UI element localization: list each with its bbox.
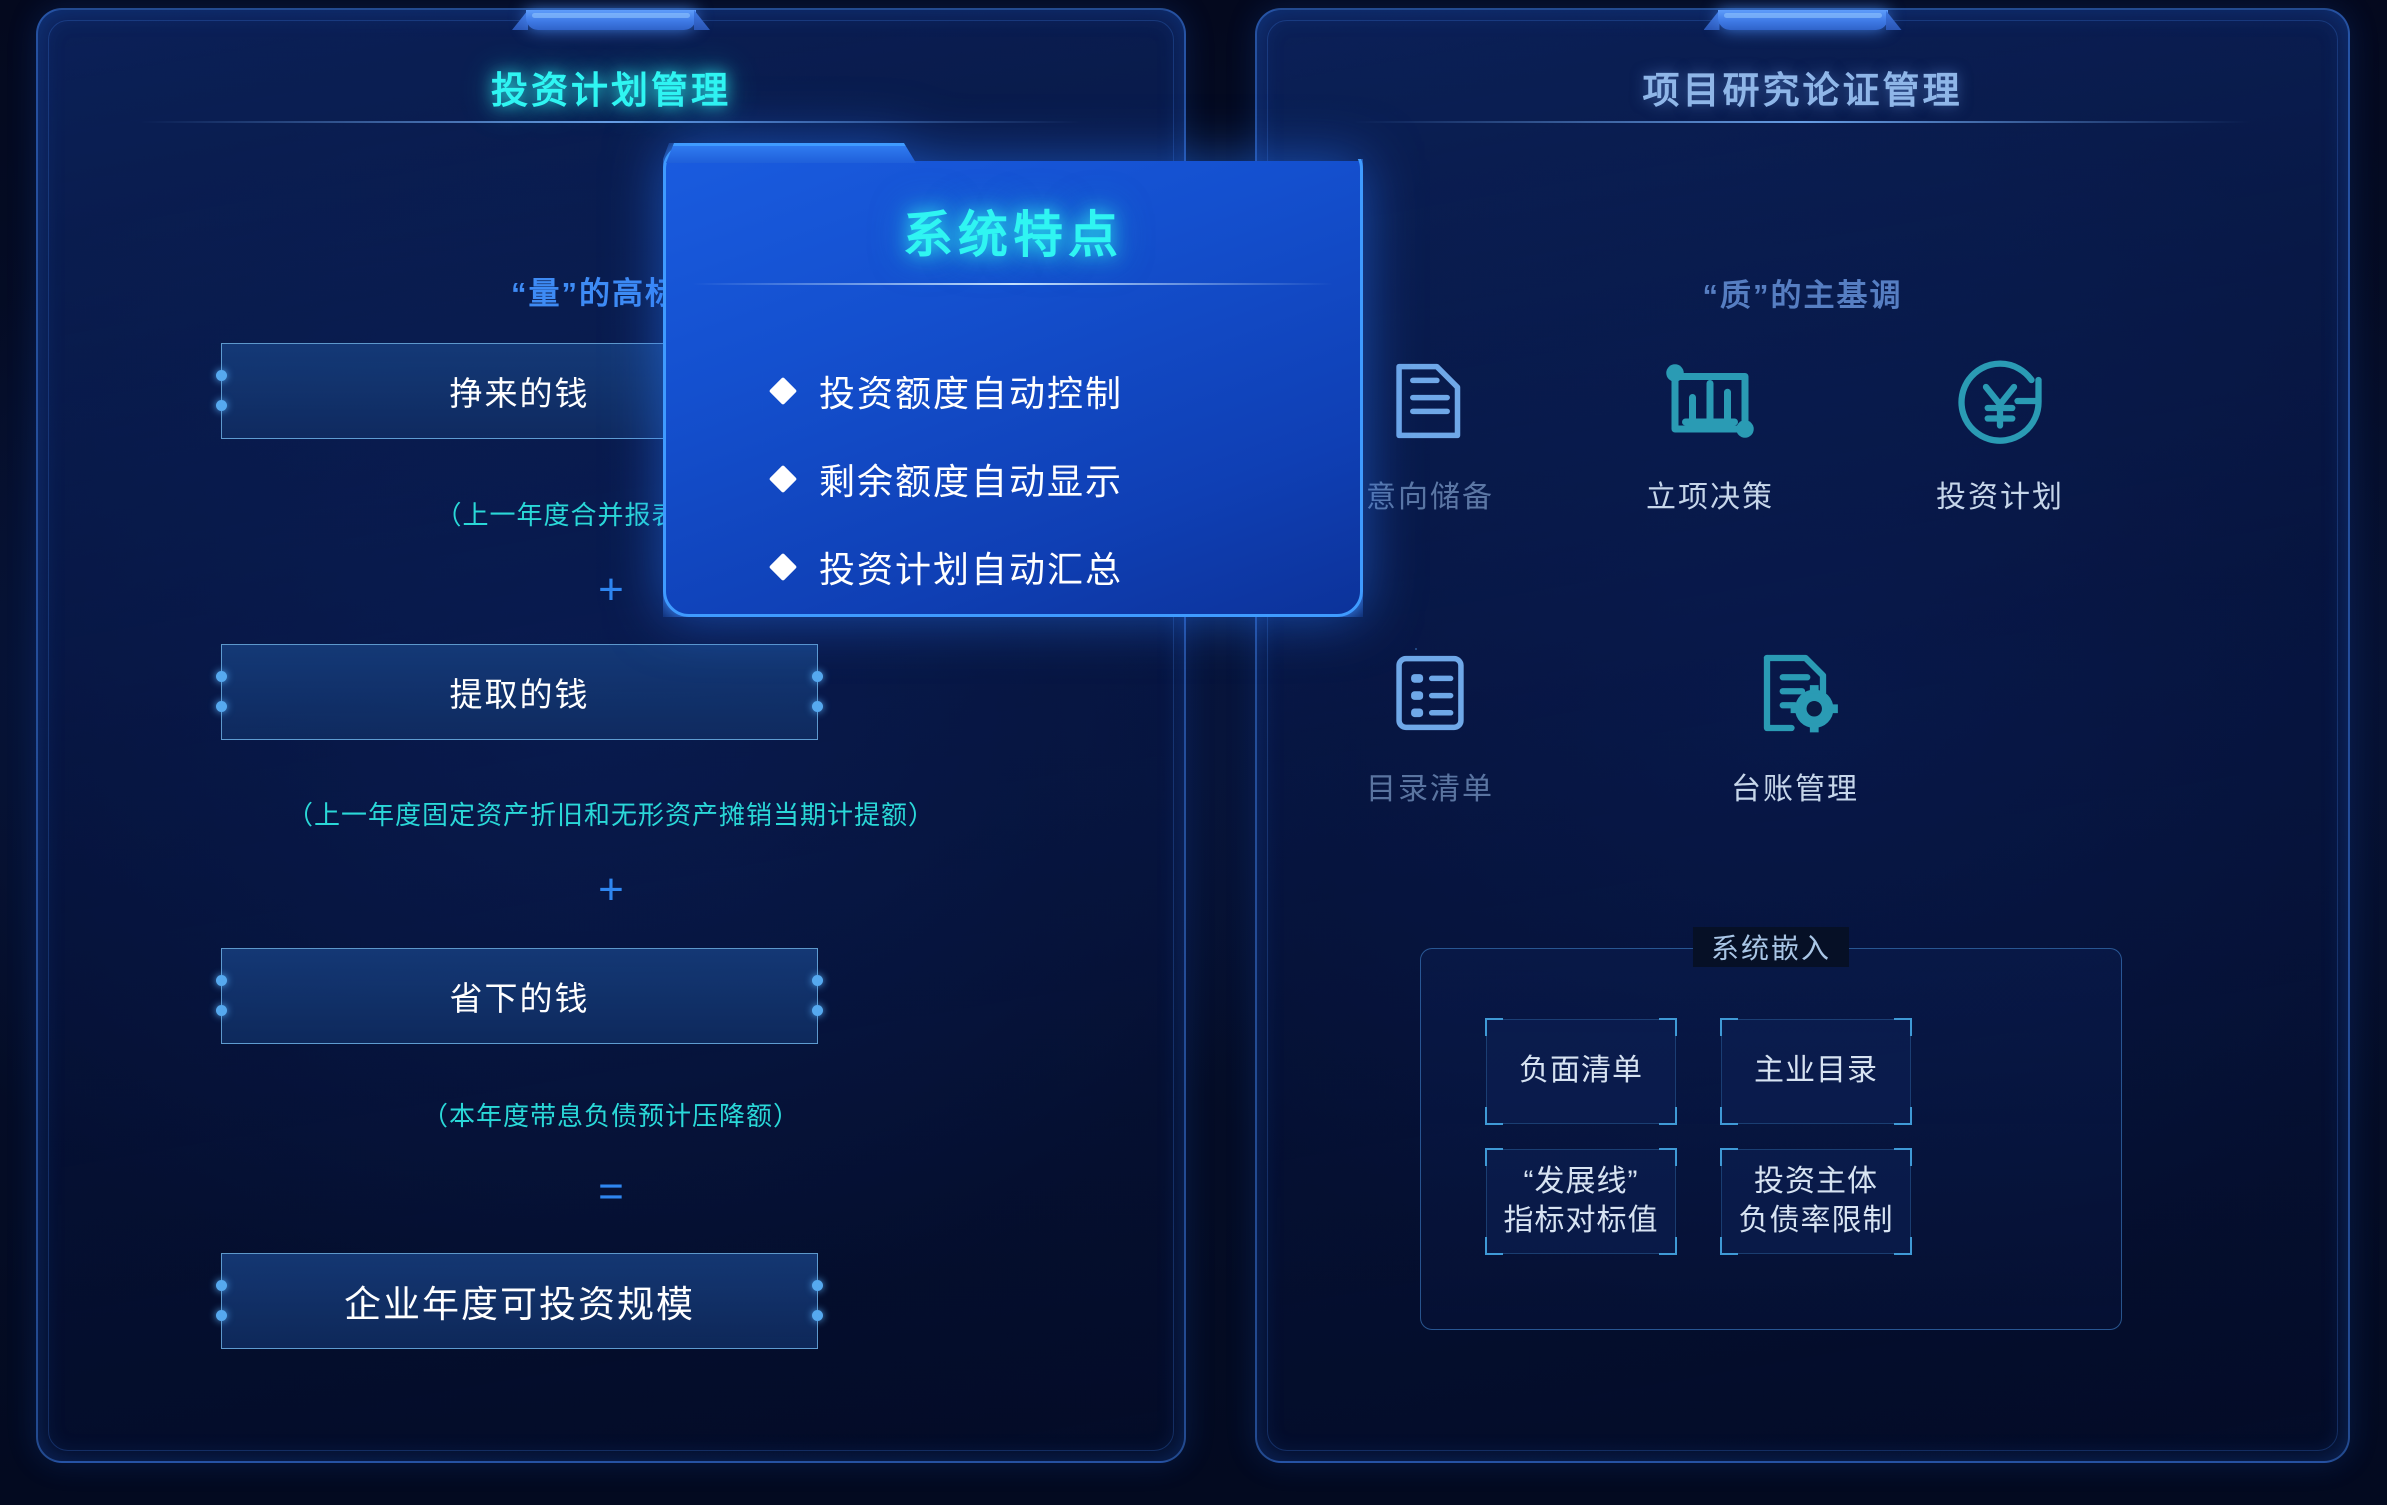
checklist-icon	[1315, 628, 1545, 758]
notch-wing-right	[1886, 10, 1902, 30]
modal-feature-item[interactable]: 投资计划自动汇总	[773, 541, 1123, 593]
slide-background: 投资计划管理 “量”的高标准 挣来的钱 （上一年度合并报表净利润） + 提取的钱…	[0, 0, 2387, 1505]
modal-title: 系统特点	[663, 195, 1363, 267]
icon-cell-ledger-management[interactable]: 台账管理	[1680, 628, 1910, 808]
node-dot	[216, 1310, 227, 1321]
yen-refresh-icon	[1885, 336, 2115, 466]
embed-item-investor-debt-ratio-label-2: 负债率限制	[1739, 1202, 1894, 1240]
embed-item-main-business-catalog-label: 主业目录	[1754, 1052, 1878, 1090]
notch-bar	[1718, 10, 1888, 30]
corner-bracket	[1894, 1148, 1912, 1166]
corner-bracket	[1485, 1237, 1503, 1255]
system-embed-legend: 系统嵌入	[1693, 927, 1849, 967]
modal-feature-item-label: 剩余额度自动显示	[819, 453, 1123, 505]
formula-note-2: （上一年度固定资产折旧和无形资产摊销当期计提额）	[36, 795, 1186, 832]
icon-cell-project-decision[interactable]: 立项决策	[1595, 336, 1825, 516]
corner-bracket	[1485, 1148, 1503, 1166]
notch-wing-right	[694, 10, 710, 30]
diamond-bullet-icon	[769, 553, 797, 581]
embed-item-main-business-catalog[interactable]: 主业目录	[1721, 1019, 1911, 1124]
node-dot	[216, 1280, 227, 1291]
embed-item-investor-debt-ratio-label-1: 投资主体	[1754, 1163, 1878, 1201]
node-dot	[216, 400, 227, 411]
icon-cell-project-decision-label: 立项决策	[1595, 472, 1825, 516]
modal-tab-top	[666, 143, 916, 166]
formula-box-2[interactable]: 提取的钱	[221, 644, 818, 740]
formula-result-label: 企业年度可投资规模	[344, 1274, 695, 1328]
formula-box-3[interactable]: 省下的钱	[221, 948, 818, 1044]
corner-bracket	[1720, 1018, 1738, 1036]
corner-bracket	[1720, 1148, 1738, 1166]
right-panel-notch	[1704, 0, 1902, 34]
embed-item-development-line-label-1: “发展线”	[1524, 1163, 1639, 1201]
formula-note-3: （本年度带息负债预计压降额）	[36, 1096, 1186, 1133]
embed-item-development-line-label-2: 指标对标值	[1504, 1202, 1659, 1240]
formula-operator-3: =	[36, 1170, 1186, 1214]
corner-bracket	[1659, 1237, 1677, 1255]
right-panel-subtitle: “质”的主基调	[1255, 270, 2350, 315]
corner-bracket	[1659, 1148, 1677, 1166]
modal-feature-list: 投资额度自动控制 剩余额度自动显示 投资计划自动汇总	[773, 365, 1123, 629]
left-panel-title: 投资计划管理	[36, 60, 1186, 114]
node-dot	[216, 370, 227, 381]
corner-bracket	[1720, 1237, 1738, 1255]
embed-item-negative-list[interactable]: 负面清单	[1486, 1019, 1676, 1124]
corner-bracket	[1659, 1107, 1677, 1125]
corner-bracket	[1894, 1237, 1912, 1255]
corner-bracket	[1485, 1018, 1503, 1036]
diamond-bullet-icon	[769, 377, 797, 405]
formula-operator-2: +	[36, 868, 1186, 912]
right-panel: 项目研究论证管理 “质”的主基调 意向储备	[1255, 8, 2350, 1463]
corner-bracket	[1659, 1018, 1677, 1036]
node-dot	[216, 1005, 227, 1016]
modal-feature-item-label: 投资计划自动汇总	[819, 541, 1123, 593]
diamond-bullet-icon	[769, 465, 797, 493]
formula-box-3-label: 省下的钱	[450, 972, 590, 1020]
modal-feature-item-label: 投资额度自动控制	[819, 365, 1123, 417]
embed-item-investor-debt-ratio[interactable]: 投资主体 负债率限制	[1721, 1149, 1911, 1254]
embed-item-negative-list-label: 负面清单	[1519, 1052, 1643, 1090]
left-panel-notch	[512, 0, 710, 34]
right-panel-title-rule	[1354, 121, 2252, 123]
node-dot	[216, 975, 227, 986]
icon-cell-catalog-list[interactable]: 目录清单	[1315, 628, 1545, 808]
corner-bracket	[1894, 1107, 1912, 1125]
notch-bar	[526, 10, 696, 30]
modal-feature-item[interactable]: 剩余额度自动显示	[773, 453, 1123, 505]
embed-item-development-line[interactable]: “发展线” 指标对标值	[1486, 1149, 1676, 1254]
system-embed-group	[1415, 648, 1417, 650]
left-panel-title-rule	[140, 121, 1083, 123]
modal-title-rule	[693, 283, 1333, 285]
system-embed-panel: 系统嵌入 负面清单 主业目录 “发展线” 指	[1420, 948, 2122, 1330]
icon-cell-investment-plan-label: 投资计划	[1885, 472, 2115, 516]
modal-feature-item[interactable]: 投资额度自动控制	[773, 365, 1123, 417]
icon-cell-investment-plan[interactable]: 投资计划	[1885, 336, 2115, 516]
node-dot	[216, 701, 227, 712]
right-panel-title: 项目研究论证管理	[1255, 60, 2350, 114]
corner-bracket	[1485, 1107, 1503, 1125]
formula-box-1-label: 挣来的钱	[450, 367, 590, 415]
formula-box-2-label: 提取的钱	[450, 668, 590, 716]
node-dot	[216, 671, 227, 682]
icon-cell-ledger-management-label: 台账管理	[1680, 764, 1910, 808]
formula-result-box[interactable]: 企业年度可投资规模	[221, 1253, 818, 1349]
document-gear-icon	[1680, 628, 1910, 758]
system-features-modal[interactable]: 系统特点 投资额度自动控制 剩余额度自动显示 投资计划自动汇总	[663, 143, 1363, 617]
corner-bracket	[1720, 1107, 1738, 1125]
corner-bracket	[1894, 1018, 1912, 1036]
bar-chart-icon	[1595, 336, 1825, 466]
icon-cell-catalog-list-label: 目录清单	[1315, 764, 1545, 808]
